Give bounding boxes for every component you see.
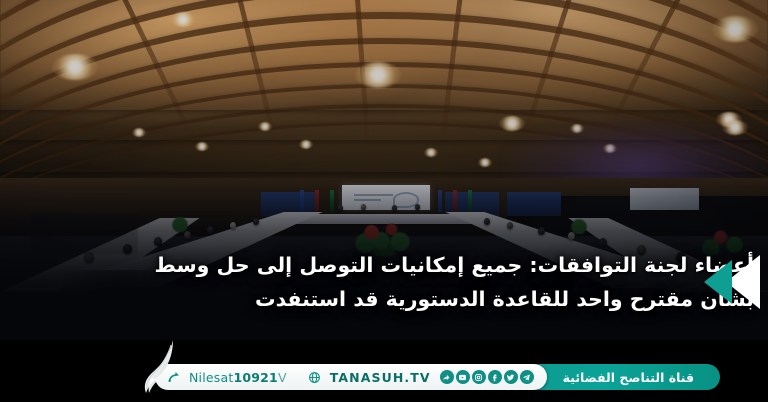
social-links [440,370,534,384]
play-arrow-left-teal [704,260,732,304]
tanasuh-feather-logo [140,338,184,396]
broadcast-info-capsule[interactable]: Nilesat10921V TANASUH.TV [155,364,547,390]
facebook-icon[interactable] [488,370,502,384]
channel-bottom-bar: TANASUH Nilesat10921V [0,340,768,402]
telegram-icon[interactable] [520,370,534,384]
conference-hall-photo [0,0,768,340]
bottom-fade [0,0,768,340]
twitter-icon[interactable] [504,370,518,384]
channel-info-strip: Nilesat10921V TANASUH.TV [155,364,720,390]
broadcast-frame: أعضاء لجنة التوافقات: جميع إمكانيات التو… [0,0,768,402]
channel-name-label: قناة التناصح الفضائية [563,370,694,385]
website-label[interactable]: TANASUH.TV [330,370,431,385]
play-arrows [670,255,762,309]
channel-name-capsule[interactable]: قناة التناصح الفضائية [527,364,720,390]
nilesat-frequency-label: Nilesat10921V [189,370,287,385]
instagram-icon[interactable] [472,370,486,384]
globe-icon [308,371,321,384]
youtube-icon[interactable] [456,370,470,384]
share-icon[interactable] [440,370,454,384]
